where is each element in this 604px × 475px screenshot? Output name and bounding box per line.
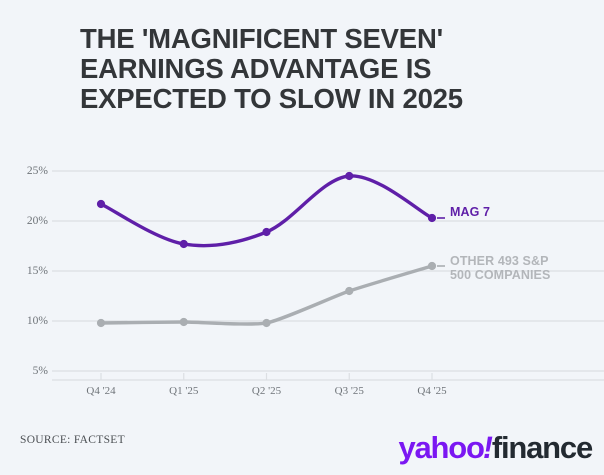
logo-yahoo-text: yahoo	[398, 431, 483, 465]
yahoo-finance-logo: yahoo!finance	[398, 431, 592, 465]
x-tick-label: Q3 '25	[335, 385, 364, 397]
series-label-mag7: MAG 7	[450, 206, 490, 220]
x-tick-label: Q2 '25	[252, 385, 281, 397]
chart-card: THE 'MAGNIFICENT SEVEN' EARNINGS ADVANTA…	[0, 0, 604, 475]
source-note: SOURCE: FACTSET	[20, 434, 125, 446]
x-tick-label: Q1 '25	[169, 385, 198, 397]
series-label-other: OTHER 493 S&P 500 COMPANIES	[450, 255, 550, 282]
logo-finance-text: finance	[492, 431, 592, 465]
x-axis: Q4 '24Q1 '25Q2 '25Q3 '25Q4 '25	[0, 0, 604, 475]
x-tick-label: Q4 '25	[417, 385, 446, 397]
x-tick-label: Q4 '24	[86, 385, 115, 397]
